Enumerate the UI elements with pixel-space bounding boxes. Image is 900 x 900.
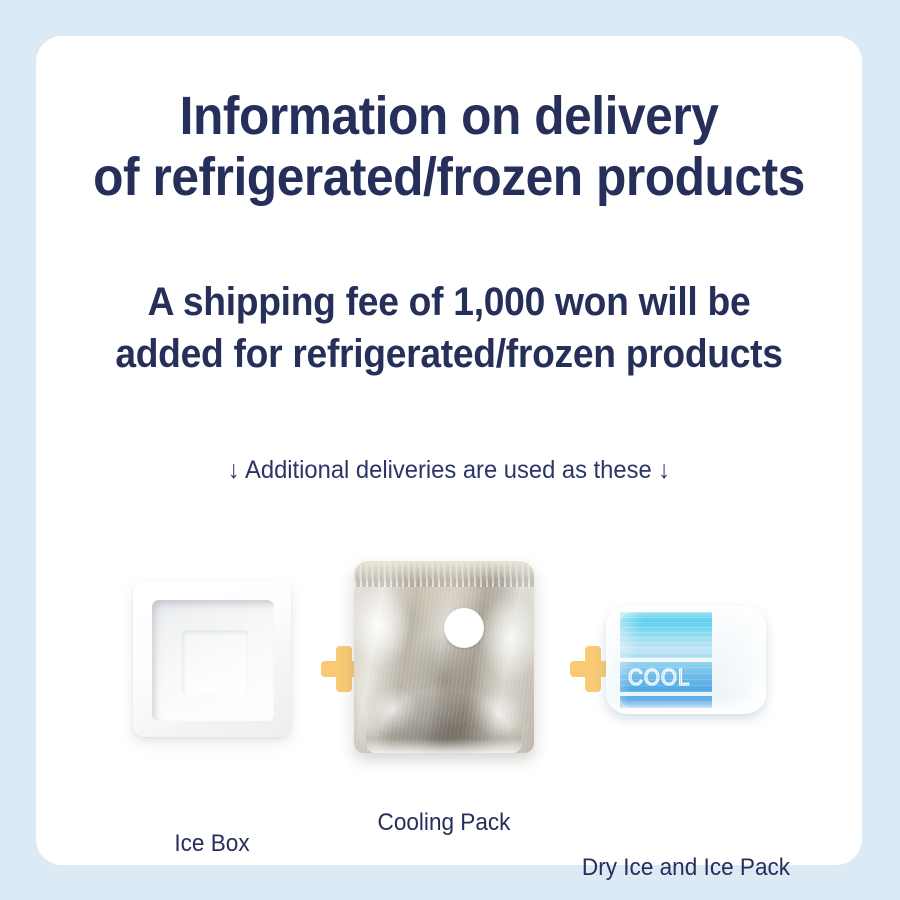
styrofoam-box-icon bbox=[133, 582, 291, 737]
cooling-pack-label: Cooling Pack bbox=[378, 809, 511, 837]
ice-box-label: Ice Box bbox=[174, 830, 249, 858]
additional-deliveries-caption: ↓ Additional deliveries are used as thes… bbox=[57, 456, 842, 485]
plus-vertical-bar bbox=[585, 646, 601, 692]
ice-pack-blue-panel: COOL bbox=[620, 612, 712, 708]
page-title: Information on delivery of refrigerated/… bbox=[69, 86, 829, 208]
foil-cooling-bag-icon bbox=[354, 561, 534, 753]
delivery-item-ice-pack: COOL Dry Ice and Ice Pack bbox=[606, 606, 766, 714]
gel-ice-pack-icon: COOL bbox=[606, 606, 766, 714]
shipping-fee-subtitle: A shipping fee of 1,000 won will be adde… bbox=[65, 276, 833, 380]
ice-pack-band-top bbox=[620, 612, 712, 658]
notice-card: Information on delivery of refrigerated/… bbox=[36, 36, 862, 865]
foil-bag-grommet-hole bbox=[444, 608, 484, 648]
plus-vertical-bar bbox=[336, 646, 352, 692]
notice-page: Information on delivery of refrigerated/… bbox=[0, 0, 900, 900]
delivery-items-row: Ice Box Cooling Pack bbox=[36, 506, 862, 796]
foil-bag-top-lip bbox=[354, 561, 534, 587]
ice-pack-label: Dry Ice and Ice Pack bbox=[582, 854, 790, 882]
delivery-item-ice-box: Ice Box bbox=[133, 582, 291, 737]
ice-box-floor bbox=[182, 630, 248, 695]
foil-bag-bottom-seam bbox=[366, 727, 522, 753]
foil-texture bbox=[354, 561, 534, 753]
ice-box-cavity bbox=[152, 600, 274, 721]
ice-pack-band-bottom bbox=[620, 696, 712, 708]
delivery-item-cooling-pack: Cooling Pack bbox=[354, 561, 534, 753]
ice-pack-cool-text: COOL bbox=[628, 664, 690, 690]
